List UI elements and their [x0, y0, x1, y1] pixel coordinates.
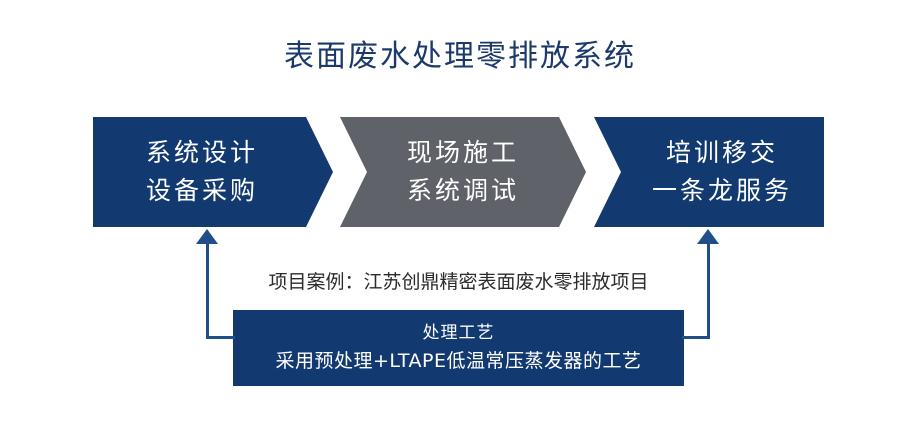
case-caption: 项目案例：江苏创鼎精密表面废水零排放项目	[233, 268, 684, 296]
connector-right-stem	[707, 243, 710, 338]
connector-left-rail	[206, 336, 235, 339]
slide-canvas: 表面废水处理零排放系统 系统设计 设备采购 现场施工 系统调试 培训移交 一条龙…	[0, 0, 920, 445]
process-step-3[interactable]: 培训移交 一条龙服务	[594, 117, 824, 227]
process-step-2-line-2: 系统调试	[407, 172, 519, 210]
connector-right-rail	[682, 336, 710, 339]
connector-left-stem	[206, 243, 209, 338]
process-step-2[interactable]: 现场施工 系统调试	[340, 117, 586, 227]
treatment-process-heading: 处理工艺	[423, 321, 495, 346]
connector-left-arrowhead-icon	[196, 229, 218, 244]
process-step-1-line-2: 设备采购	[146, 172, 258, 210]
process-flow: 系统设计 设备采购 现场施工 系统调试 培训移交 一条龙服务	[0, 117, 920, 227]
page-title: 表面废水处理零排放系统	[0, 37, 920, 77]
treatment-process-box[interactable]: 处理工艺 采用预处理+LTAPE低温常压蒸发器的工艺	[233, 310, 684, 386]
connector-right-arrowhead-icon	[697, 229, 719, 244]
process-step-3-line-2: 一条龙服务	[652, 172, 792, 210]
process-step-2-line-1: 现场施工	[407, 134, 519, 172]
process-step-1[interactable]: 系统设计 设备采购	[93, 117, 333, 227]
process-step-3-line-1: 培训移交	[666, 134, 778, 172]
treatment-process-body: 采用预处理+LTAPE低温常压蒸发器的工艺	[276, 346, 642, 376]
process-step-1-line-1: 系统设计	[146, 134, 258, 172]
